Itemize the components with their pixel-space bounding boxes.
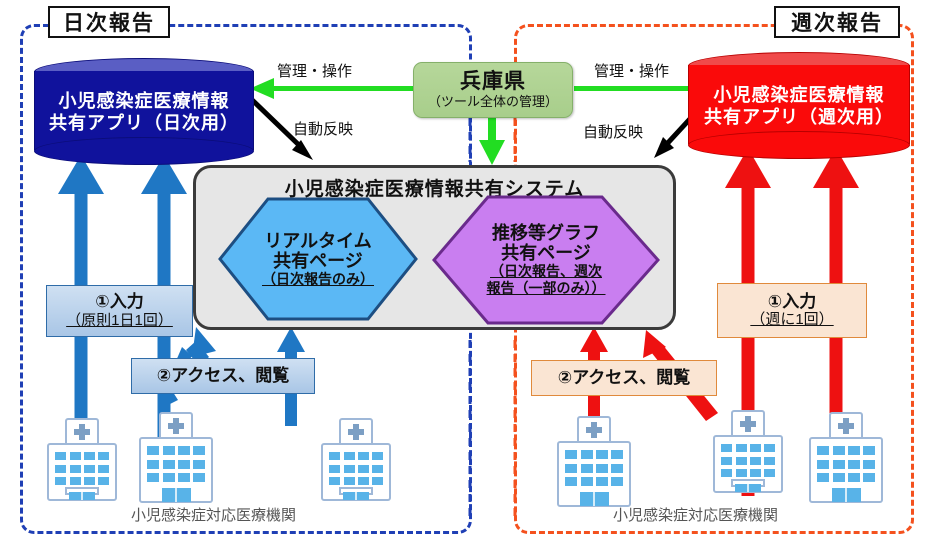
daily-access-callout-line1: ②アクセス、閲覧 (157, 367, 290, 386)
hospital-icon (130, 412, 222, 504)
realtime-share-page-hexagon[interactable]: リアルタイム 共有ページ （日次報告のみ） (218, 197, 418, 321)
green-arrow-to-system (479, 118, 505, 165)
weekly-db-label-line1: 小児感染症医療情報 (714, 85, 885, 107)
diagram-canvas: 日次報告 週次報告 小児感染症医療情報 共有アプリ（日次用） 小児感染症医療情報… (0, 0, 930, 551)
realtime-sub1: （日次報告のみ） (262, 272, 374, 288)
hospital-icon (548, 416, 640, 508)
hyogo-title: 兵庫県 (460, 70, 526, 93)
graph-line1: 推移等グラフ (492, 223, 600, 243)
hospital-icon (36, 418, 128, 502)
daily-auto-label: 自動反映 (293, 118, 353, 139)
weekly-manage-label: 管理・操作 (594, 60, 669, 81)
hospital-icon (800, 412, 892, 504)
weekly-section-chip-label: 週次報告 (791, 7, 883, 37)
daily-input-callout-line2: （原則1日1回） (66, 312, 173, 329)
weekly-db-cylinder: 小児感染症医療情報 共有アプリ（週次用） (688, 52, 910, 157)
graph-hex-text: 推移等グラフ 共有ページ （日次報告、週次 報告（一部のみ）） (432, 195, 660, 325)
daily-db-label: 小児感染症医療情報 共有アプリ（日次用） (34, 78, 254, 148)
daily-input-callout: ①入力 （原則1日1回） (46, 285, 193, 337)
graph-sub1: （日次報告、週次 (490, 264, 602, 280)
hyogo-subtitle: （ツール全体の管理） (428, 94, 558, 110)
weekly-input-callout: ①入力 （週に1回） (717, 283, 867, 338)
weekly-access-callout: ②アクセス、閲覧 (531, 360, 717, 396)
daily-db-cylinder: 小児感染症医療情報 共有アプリ（日次用） (34, 58, 254, 163)
hyogo-prefecture-box: 兵庫県 （ツール全体の管理） (413, 62, 573, 118)
daily-access-callout: ②アクセス、閲覧 (131, 358, 315, 394)
graph-line2: 共有ページ (501, 243, 591, 263)
weekly-input-callout-line2: （週に1回） (750, 311, 833, 328)
realtime-line1: リアルタイム (264, 231, 371, 251)
weekly-access-callout-line1: ②アクセス、閲覧 (558, 369, 691, 388)
hospital-icon (310, 418, 402, 502)
daily-section-chip: 日次報告 (48, 6, 170, 38)
weekly-auto-label: 自動反映 (583, 121, 643, 142)
weekly-facility-caption: 小児感染症対応医療機関 (613, 504, 778, 525)
weekly-section-chip: 週次報告 (774, 6, 900, 38)
graph-share-page-hexagon[interactable]: 推移等グラフ 共有ページ （日次報告、週次 報告（一部のみ）） (432, 195, 660, 325)
weekly-input-callout-line1: ①入力 (768, 293, 816, 312)
daily-input-callout-line1: ①入力 (95, 293, 143, 312)
graph-sub2: 報告（一部のみ）） (487, 281, 606, 297)
weekly-db-label: 小児感染症医療情報 共有アプリ（週次用） (688, 72, 910, 142)
weekly-db-label-line2: 共有アプリ（週次用） (704, 107, 894, 129)
daily-db-label-line2: 共有アプリ（日次用） (49, 113, 239, 135)
daily-facility-caption: 小児感染症対応医療機関 (131, 504, 296, 525)
daily-section-chip-label: 日次報告 (63, 7, 155, 37)
daily-db-label-line1: 小児感染症医療情報 (59, 91, 230, 113)
realtime-hex-text: リアルタイム 共有ページ （日次報告のみ） (218, 197, 418, 321)
daily-manage-label: 管理・操作 (277, 60, 352, 81)
hospital-icon (702, 410, 794, 494)
realtime-line2: 共有ページ (273, 251, 363, 271)
